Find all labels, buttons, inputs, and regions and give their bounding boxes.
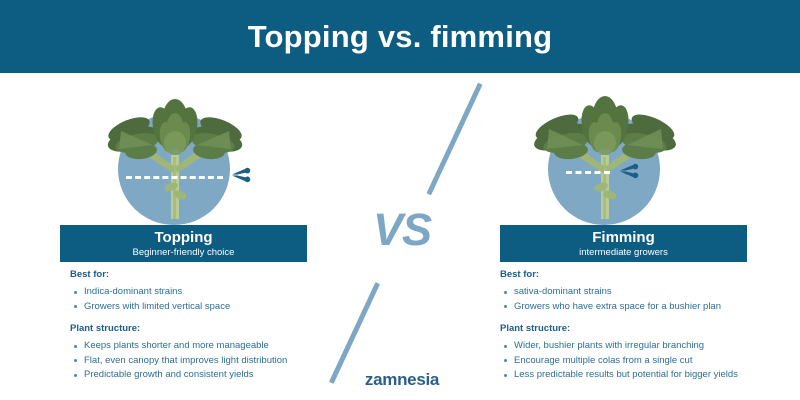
details-fimming: Best for: sativa-dominant strains Grower… bbox=[500, 269, 790, 383]
panel-label-fimming: Fimming intermediate growers bbox=[500, 225, 747, 262]
divider-line-upper bbox=[426, 83, 482, 196]
list-item: Predictable growth and consistent yields bbox=[70, 368, 360, 382]
list-item: Wider, bushier plants with irregular bra… bbox=[500, 339, 790, 353]
detail-group: Plant structure: Keeps plants shorter an… bbox=[70, 323, 360, 382]
list-item: Keeps plants shorter and more manageable bbox=[70, 339, 360, 353]
list-item: Less predictable results but potential f… bbox=[500, 368, 790, 382]
list-item: Flat, even canopy that improves light di… bbox=[70, 354, 360, 368]
bullet-list: Wider, bushier plants with irregular bra… bbox=[500, 339, 790, 382]
illustration-topping bbox=[40, 91, 350, 226]
list-item: Indica-dominant strains bbox=[70, 285, 360, 299]
details-topping: Best for: Indica-dominant strains Grower… bbox=[70, 269, 360, 383]
list-item: sativa-dominant strains bbox=[500, 285, 790, 299]
cannabis-plant-topping-image bbox=[95, 91, 255, 221]
scissors-icon bbox=[618, 161, 640, 181]
group-heading: Best for: bbox=[70, 269, 360, 281]
panel-label-subtitle: Beginner-friendly choice bbox=[60, 246, 307, 260]
panel-label-topping: Topping Beginner-friendly choice bbox=[60, 225, 307, 262]
versus-badge: VS bbox=[370, 204, 434, 256]
brand-logo: zamnesia bbox=[352, 370, 452, 390]
cannabis-plant-fimming-image bbox=[525, 91, 685, 221]
bullet-list: Keeps plants shorter and more manageable… bbox=[70, 339, 360, 382]
page-title: Topping vs. fimming bbox=[0, 0, 800, 73]
list-item: Encourage multiple colas from a single c… bbox=[500, 354, 790, 368]
list-item: Growers with limited vertical space bbox=[70, 300, 360, 314]
illustration-fimming bbox=[480, 91, 790, 226]
scissors-icon bbox=[230, 165, 252, 185]
cut-line-fimming bbox=[566, 171, 610, 174]
panel-label-title: Fimming bbox=[500, 229, 747, 246]
detail-group: Plant structure: Wider, bushier plants w… bbox=[500, 323, 790, 382]
detail-group: Best for: Indica-dominant strains Grower… bbox=[70, 269, 360, 313]
list-item: Growers who have extra space for a bushi… bbox=[500, 300, 790, 314]
panel-label-subtitle: intermediate growers bbox=[500, 246, 747, 260]
group-heading: Plant structure: bbox=[70, 323, 360, 335]
cut-line-topping bbox=[126, 176, 223, 179]
panel-label-title: Topping bbox=[60, 229, 307, 246]
group-heading: Plant structure: bbox=[500, 323, 790, 335]
infographic-canvas: Topping vs. fimming bbox=[0, 0, 800, 400]
group-heading: Best for: bbox=[500, 269, 790, 281]
bullet-list: Indica-dominant strains Growers with lim… bbox=[70, 285, 360, 313]
detail-group: Best for: sativa-dominant strains Grower… bbox=[500, 269, 790, 313]
bullet-list: sativa-dominant strains Growers who have… bbox=[500, 285, 790, 313]
